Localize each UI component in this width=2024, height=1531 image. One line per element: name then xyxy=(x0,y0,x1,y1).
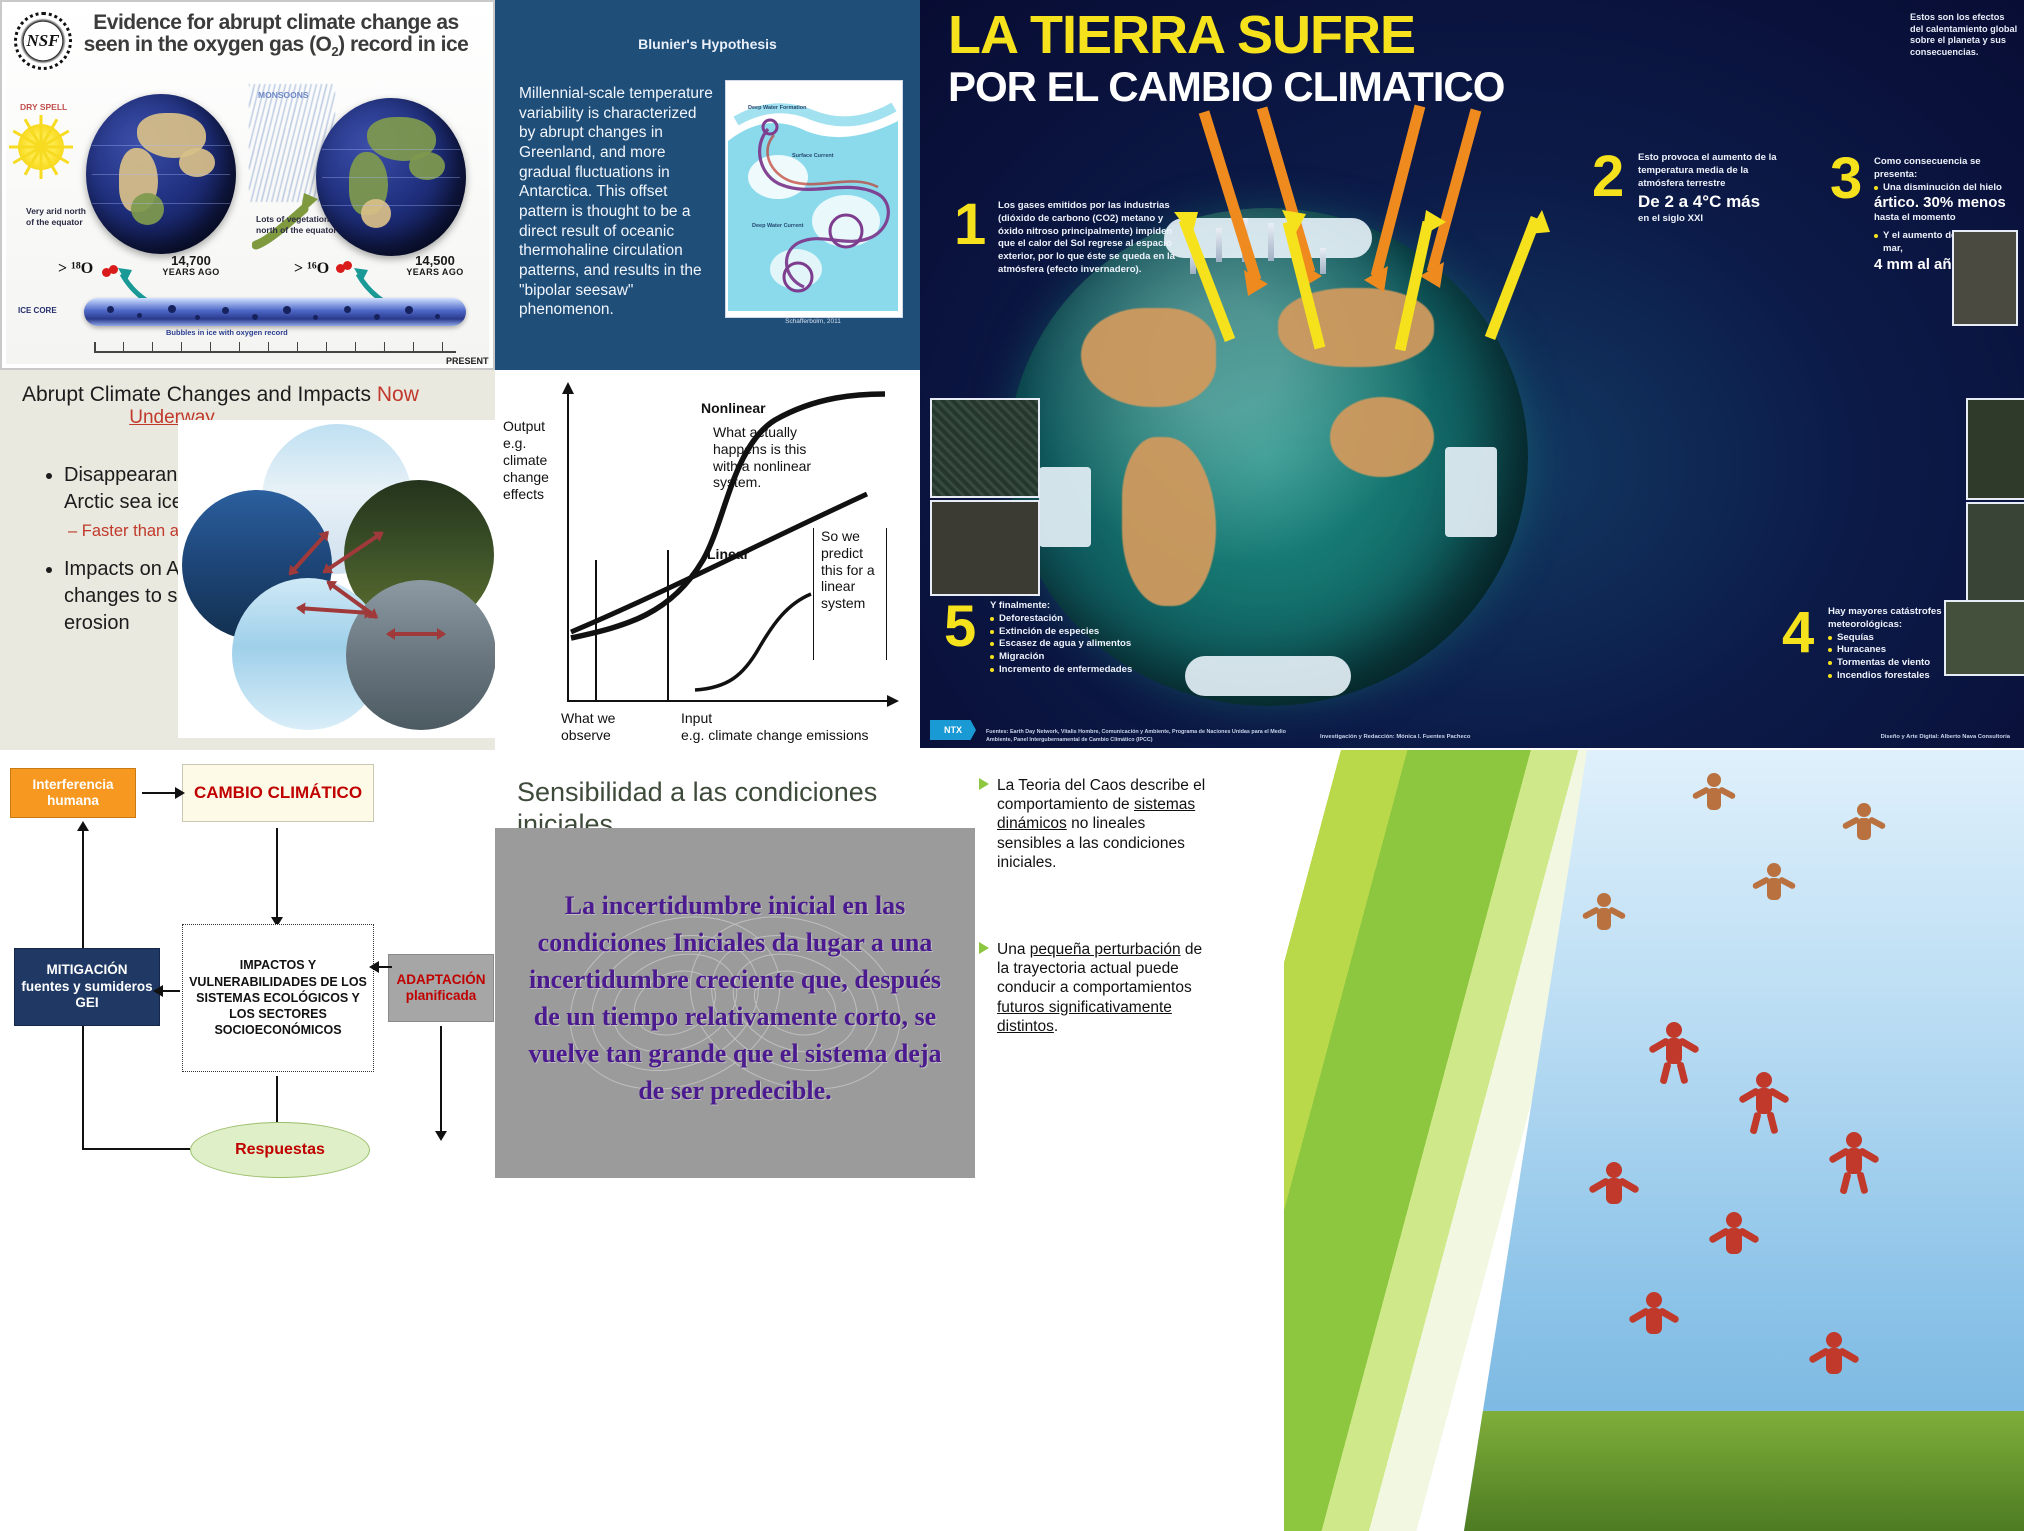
flow-box-mitigacion: MITIGACIÓN fuentes y sumideros GEI xyxy=(14,948,160,1026)
flow-box-interferencia-humana: Interferencia humana xyxy=(10,768,136,818)
infographic-sources: Fuentes: Earth Day Network, Vitalis Homb… xyxy=(986,729,1306,744)
isotope-left-label: > ¹⁸O xyxy=(58,260,93,278)
caos-bullet-2-pre: Una xyxy=(997,941,1030,958)
thumbnail-photo-2 xyxy=(930,500,1040,596)
tierra-number-3: 3 xyxy=(1830,150,1862,208)
tierra-body-4-text: Hay mayores catástrofes meteorológicas: xyxy=(1828,606,1942,630)
tierra-bullet-5-0: Deforestación xyxy=(990,613,1180,626)
tierra-body-5-text: Y finalmente: xyxy=(990,600,1050,611)
x-axis-label-line2: e.g. climate change emissions xyxy=(681,727,901,744)
panel-la-tierra-sufre: LA TIERRA SUFRE POR EL CAMBIO CLIMATICO … xyxy=(920,0,2024,748)
blunier-figure-caption: Schafferbolm, 2011 xyxy=(725,318,901,325)
thumbnail-photo-4 xyxy=(1966,398,2024,500)
panel-cambio-climatico-flowchart: Interferencia humana CAMBIO CLIMÁTICO IM… xyxy=(0,750,495,1531)
photo-mountains xyxy=(346,580,495,730)
infographic-side-note: Estos son los efectos del calentamiento … xyxy=(1910,12,2020,59)
tierra-bullet-5-3: Migración xyxy=(990,651,1180,664)
isotope-right-label: > ¹⁶O xyxy=(294,260,329,278)
adaptacion-sub: planificada xyxy=(406,988,477,1004)
thumbnail-photo-5 xyxy=(1966,502,2024,604)
flow-arrow-mitigacion-to-interferencia xyxy=(82,830,84,948)
observe-tick-2 xyxy=(667,550,669,700)
mitigacion-sub: fuentes y sumideros GEI xyxy=(15,979,159,1012)
tierra-bullet-3: Una disminución del hielo xyxy=(1874,182,2020,195)
flow-arrow-cambio-to-impactos xyxy=(276,828,278,918)
lots-vegetation-label: Lots of vegetation north of the equator xyxy=(256,214,338,235)
infographic-credit-research: Investigación y Redacción: Mónica I. Fue… xyxy=(1320,734,1470,740)
flow-line-respuestas-up xyxy=(82,1026,84,1150)
tierra-body-3-text: Como consecuencia se presenta: xyxy=(1874,156,1981,180)
flow-arrow-adaptacion-to-respuestas xyxy=(440,1026,442,1132)
climate-system-photo-collage xyxy=(178,420,495,738)
ice-core-label: ICE CORE xyxy=(18,306,57,315)
map-label-surface-current: Surface Current xyxy=(792,153,834,159)
bubbles-caption: Bubbles in ice with oxygen record xyxy=(166,328,288,337)
observe-tick-1 xyxy=(595,560,597,700)
ice-core-title: Evidence for abrupt climate change as se… xyxy=(66,12,486,59)
panel-ice-core-evidence: NSF Evidence for abrupt climate change a… xyxy=(0,0,495,370)
years-right-value: 14,500 xyxy=(398,254,472,268)
ice-core-title-line1: Evidence for abrupt climate change as xyxy=(66,12,486,34)
time-ruler xyxy=(94,338,456,353)
tierra-big-3: ártico. 30% menos xyxy=(1874,194,2020,211)
abrupt-title-now: Now xyxy=(377,383,419,406)
tierra-bullet-5-4: Incremento de enfermedades xyxy=(990,664,1180,677)
thumbnail-photo-1 xyxy=(930,398,1040,498)
flow-arrow-impactos-to-mitigacion xyxy=(162,990,180,992)
tierra-body-2: Esto provoca el aumento de la temperatur… xyxy=(1638,152,1784,226)
panel-teoria-del-caos: La Teoria del Caos describe el comportam… xyxy=(975,750,2024,1531)
thumbnail-photo-3 xyxy=(1952,230,2018,326)
tierra-number-1: 1 xyxy=(954,196,986,254)
ntx-logo: NTX xyxy=(930,720,976,740)
sun-icon xyxy=(18,124,64,170)
tierra-number-2: 2 xyxy=(1592,148,1624,206)
panel-abrupt-climate-impacts: Abrupt Climate Changes and Impacts Now U… xyxy=(0,370,495,750)
ice-core-canvas: NSF Evidence for abrupt climate change a… xyxy=(6,6,489,364)
tierra-body-5: Y finalmente: Deforestación Extinción de… xyxy=(990,600,1180,677)
nsf-logo-icon: NSF xyxy=(14,12,72,70)
tierra-bullet-5-1: Extinción de especies xyxy=(990,626,1180,639)
tierra-body-2-text: Esto provoca el aumento de la temperatur… xyxy=(1638,152,1777,189)
flow-line-respuestas-left xyxy=(82,1148,190,1150)
caos-bullet-2-underline: pequeña perturbación xyxy=(1030,941,1181,958)
map-label-deep-water-formation: Deep Water Formation xyxy=(748,105,806,111)
nonlinear-note: What actually happens is this with a non… xyxy=(713,424,817,491)
linear-label: Linear xyxy=(707,546,749,563)
tierra-small-2: en el siglo XXI xyxy=(1638,213,1703,224)
tierra-body-1: Los gases emitidos por las industrias (d… xyxy=(998,200,1180,277)
y-axis-label: Output e.g. climate change effects xyxy=(503,418,563,503)
nonlinear-label: Nonlinear xyxy=(701,400,766,417)
caos-bullet-2-underline2: futuros significativamente distintos xyxy=(997,999,1172,1035)
flow-arrow-interferencia-to-cambio xyxy=(142,792,176,794)
ice-core-cylinder xyxy=(84,298,466,326)
flow-box-adaptacion: ADAPTACIÓN planificada xyxy=(388,954,494,1022)
very-arid-label: Very arid north of the equator xyxy=(26,206,92,227)
tierra-bullet-5-2: Escasez de agua y alimentos xyxy=(990,638,1180,651)
tierra-small-3: hasta el momento xyxy=(1874,212,1956,223)
dry-spell-label: DRY SPELL xyxy=(20,102,67,113)
adaptacion-title: ADAPTACIÓN xyxy=(397,972,486,988)
abrupt-title-prefix: Abrupt Climate Changes and Impacts xyxy=(22,383,377,406)
linear-note: So we predict this for a linear system xyxy=(821,528,881,612)
thumbnail-photo-6 xyxy=(1944,600,2024,676)
tierra-number-4: 4 xyxy=(1782,604,1814,662)
greenhouse-arrows-icon xyxy=(1170,100,1590,400)
ice-core-title-line2a: seen in the oxygen gas (O xyxy=(84,33,332,56)
flow-arrow-adaptacion-to-impactos xyxy=(378,966,392,968)
panel-nonlinear-vs-linear: Output e.g. climate change effects Nonli… xyxy=(495,370,920,750)
ice-core-title-line2: seen in the oxygen gas (O2) record in ic… xyxy=(66,34,486,59)
mitigacion-title: MITIGACIÓN xyxy=(47,962,128,978)
flow-box-impactos: IMPACTOS Y VULNERABILIDADES DE LOS SISTE… xyxy=(182,924,374,1072)
globe-left xyxy=(86,94,236,254)
caos-bullet-2-post2: . xyxy=(1054,1018,1058,1035)
sensibilidad-body: La incertidumbre inicial en las condicio… xyxy=(519,888,951,1109)
infographic-credit-design: Diseño y Arte Digital: Alberto Nava Cons… xyxy=(1881,734,2010,740)
x-axis-label-line1: Input xyxy=(681,710,901,727)
x-axis-label: Input e.g. climate change emissions xyxy=(681,710,901,744)
nsf-logo-text: NSF xyxy=(17,15,69,67)
caos-bullet-1: La Teoria del Caos describe el comportam… xyxy=(997,776,1207,872)
observe-label: What we observe xyxy=(561,710,631,744)
present-label: PRESENT xyxy=(446,356,489,366)
tierra-big-2: De 2 a 4°C más xyxy=(1638,192,1784,212)
thermohaline-map-figure: Deep Water Formation Surface Current Dee… xyxy=(725,80,903,318)
panel-blunier-hypothesis: Blunier's Hypothesis Millennial-scale te… xyxy=(495,0,920,370)
panel-sensibilidad-condiciones-iniciales: Sensibilidad a las condiciones iniciales… xyxy=(495,750,975,1531)
thermohaline-map-svg xyxy=(726,81,902,317)
interaction-arrow-5 xyxy=(388,632,444,636)
years-left-value: 14,700 xyxy=(154,254,228,268)
map-label-deep-water-current: Deep Water Current xyxy=(752,223,803,229)
caos-bullet-2: Una pequeña perturbación de la trayector… xyxy=(997,940,1207,1036)
tierra-number-5: 5 xyxy=(944,598,976,656)
blunier-title: Blunier's Hypothesis xyxy=(495,36,920,52)
bullet-marker-icon xyxy=(979,778,989,790)
bullet-marker-icon xyxy=(979,942,989,954)
slide-collage: NSF Evidence for abrupt climate change a… xyxy=(0,0,2024,1531)
ice-core-title-line2b: ) record in ice xyxy=(338,33,468,56)
flow-box-cambio-climatico: CAMBIO CLIMÁTICO xyxy=(182,764,374,822)
flow-box-respuestas: Respuestas xyxy=(190,1122,370,1178)
infographic-headline-1: LA TIERRA SUFRE xyxy=(948,10,1415,61)
blunier-body: Millennial-scale temperature variability… xyxy=(519,84,715,320)
